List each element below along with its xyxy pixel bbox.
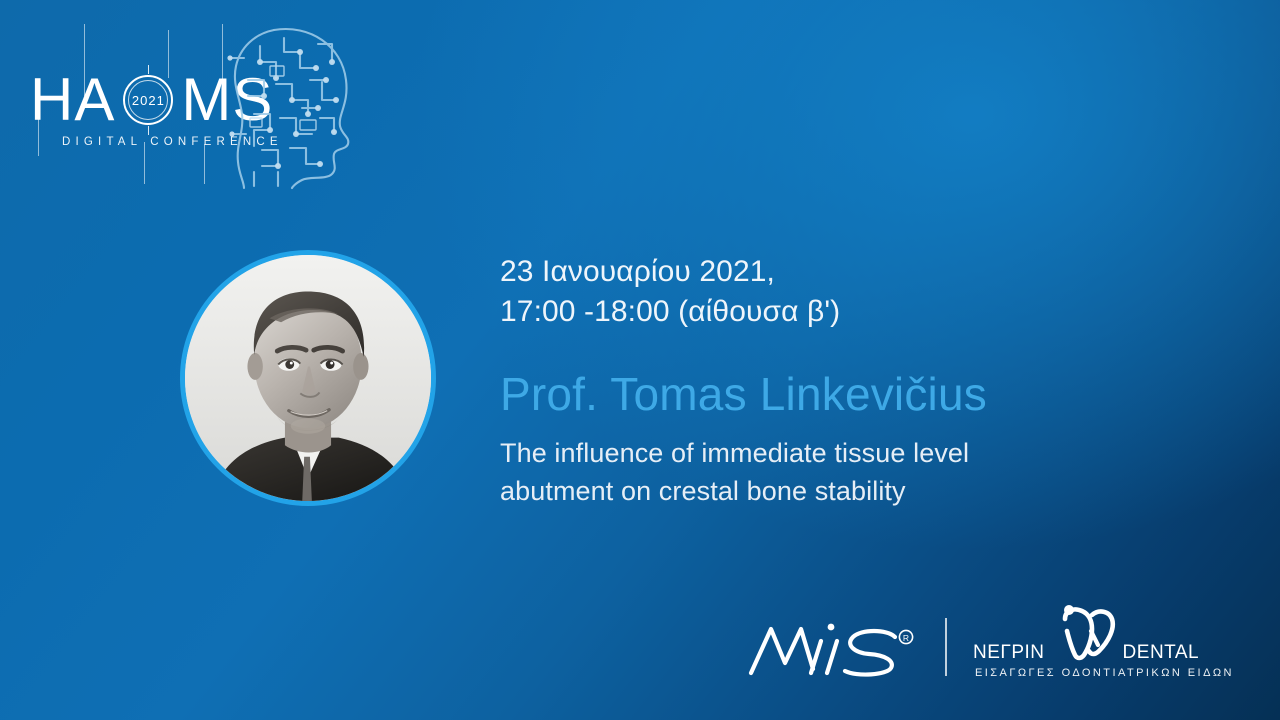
negrin-dental-logo: Νεγριν Dental ΕΙΣΑΓΩΓΕΣ ΟΔΟΝΤΙΑΤΡΙΚΩΝ ΕΙ… [973,607,1269,687]
logo-letter-a: A [74,70,115,130]
negrin-wordmark-row: Νεγριν Dental [973,621,1199,663]
session-topic-line-1: The influence of immediate tissue level [500,434,1200,472]
session-topic-line-2: abutment on crestal bone stability [500,472,1200,510]
speaker-portrait [180,250,436,506]
logo-tick-bottom [148,126,149,135]
session-info: 23 Ιανουαρίου 2021, 17:00 -18:00 (αίθουσ… [500,252,1200,511]
conference-slide: H A 2021 M S DIGITAL CONFERENCE [0,0,1280,720]
negrin-word-right: Dental [1123,636,1200,663]
speaker-name: Prof. Tomas Linkevičius [500,370,1200,418]
sponsor-divider [945,618,947,676]
portrait-image [185,255,431,501]
svg-text:R: R [903,633,909,643]
negrin-tagline: ΕΙΣΑΓΩΓΕΣ ΟΔΟΝΤΙΑΤΡΙΚΩΝ ΕΙΔΩΝ [975,667,1234,679]
session-date-line-1: 23 Ιανουαρίου 2021, [500,252,1200,292]
session-date: 23 Ιανουαρίου 2021, 17:00 -18:00 (αίθουσ… [500,252,1200,332]
circuit-brain-icon [214,22,360,190]
logo-letter-h: H [30,70,74,130]
session-topic: The influence of immediate tissue level … [500,434,1200,511]
logo-decor-line [204,144,205,184]
session-date-line-2: 17:00 -18:00 (αίθουσα β') [500,292,1200,332]
sponsor-logos: R Νεγριν Dental ΕΙΣΑΓΩΓΕΣ ΟΔΟΝΤΙΑΤΡΙΚΩΝ … [745,604,1269,690]
mis-logo-dot [828,624,835,631]
logo-decor-line [144,142,145,184]
tooth-in-icon [1051,605,1117,663]
negrin-word-left: Νεγριν [973,636,1045,663]
logo-letter-o-year-badge: 2021 [117,69,179,131]
mis-logo: R [745,611,923,683]
tooth-icon-dot [1064,605,1074,615]
mis-registered-mark: R [899,630,912,643]
logo-year: 2021 [117,69,179,131]
